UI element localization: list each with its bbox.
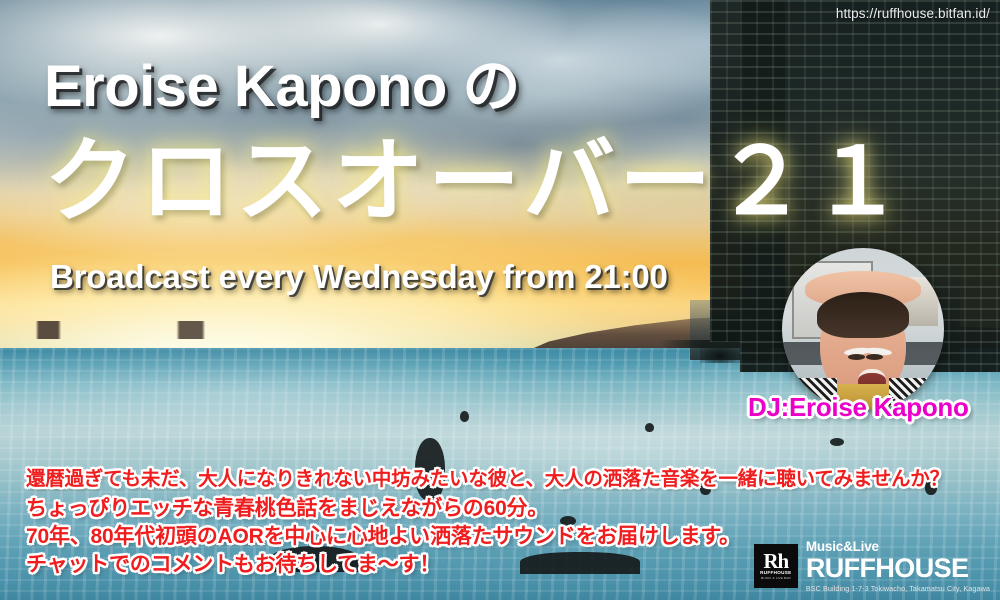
description-line-2: ちょっぴりエッチな青春桃色話をまじえながらの60分。 [26, 498, 986, 519]
surfer-silhouette [645, 423, 654, 432]
broadcast-schedule: Broadcast every Wednesday from 21:00 [50, 258, 668, 296]
surfer-silhouette [830, 438, 844, 446]
dj-eye-left [848, 354, 865, 360]
logo-mark-tagline: MUSIC & LIVE BAR [761, 577, 791, 581]
logo-monogram: Rh [763, 552, 788, 571]
surfer-silhouette [460, 411, 469, 422]
ruffhouse-logo-text: Music&Live RUFFHOUSE BSC Building 1-7-3 … [806, 540, 990, 592]
logo-tagline: Music&Live [806, 540, 990, 554]
description-line-1: 還暦過ぎても未だ、大人になりきれない中坊みたいな彼と、大人の洒落た音楽を一緒に聴… [26, 470, 986, 490]
dj-portrait-photo [782, 248, 944, 410]
broadcast-poster: https://ruffhouse.bitfan.id/ Eroise Kapo… [0, 0, 1000, 600]
logo-address: BSC Building 1-7-3 Tokiwacho, Takamatsu … [806, 585, 990, 592]
website-url[interactable]: https://ruffhouse.bitfan.id/ [836, 6, 990, 21]
logo-brand-name: RUFFHOUSE [806, 555, 990, 582]
dj-name-label: DJ:Eroise Kapono [748, 392, 969, 423]
background-distant-ships [10, 321, 330, 339]
dj-eye-right [866, 354, 883, 360]
program-title-japanese: クロスオーバー２１ [44, 134, 907, 231]
program-title-english: Eroise Kapono の [44, 58, 520, 116]
dj-hair [817, 292, 909, 338]
ruffhouse-logo-block[interactable]: Rh RUFFHOUSE MUSIC & LIVE BAR Music&Live… [748, 534, 996, 596]
ruffhouse-logo-mark: Rh RUFFHOUSE MUSIC & LIVE BAR [754, 544, 798, 588]
